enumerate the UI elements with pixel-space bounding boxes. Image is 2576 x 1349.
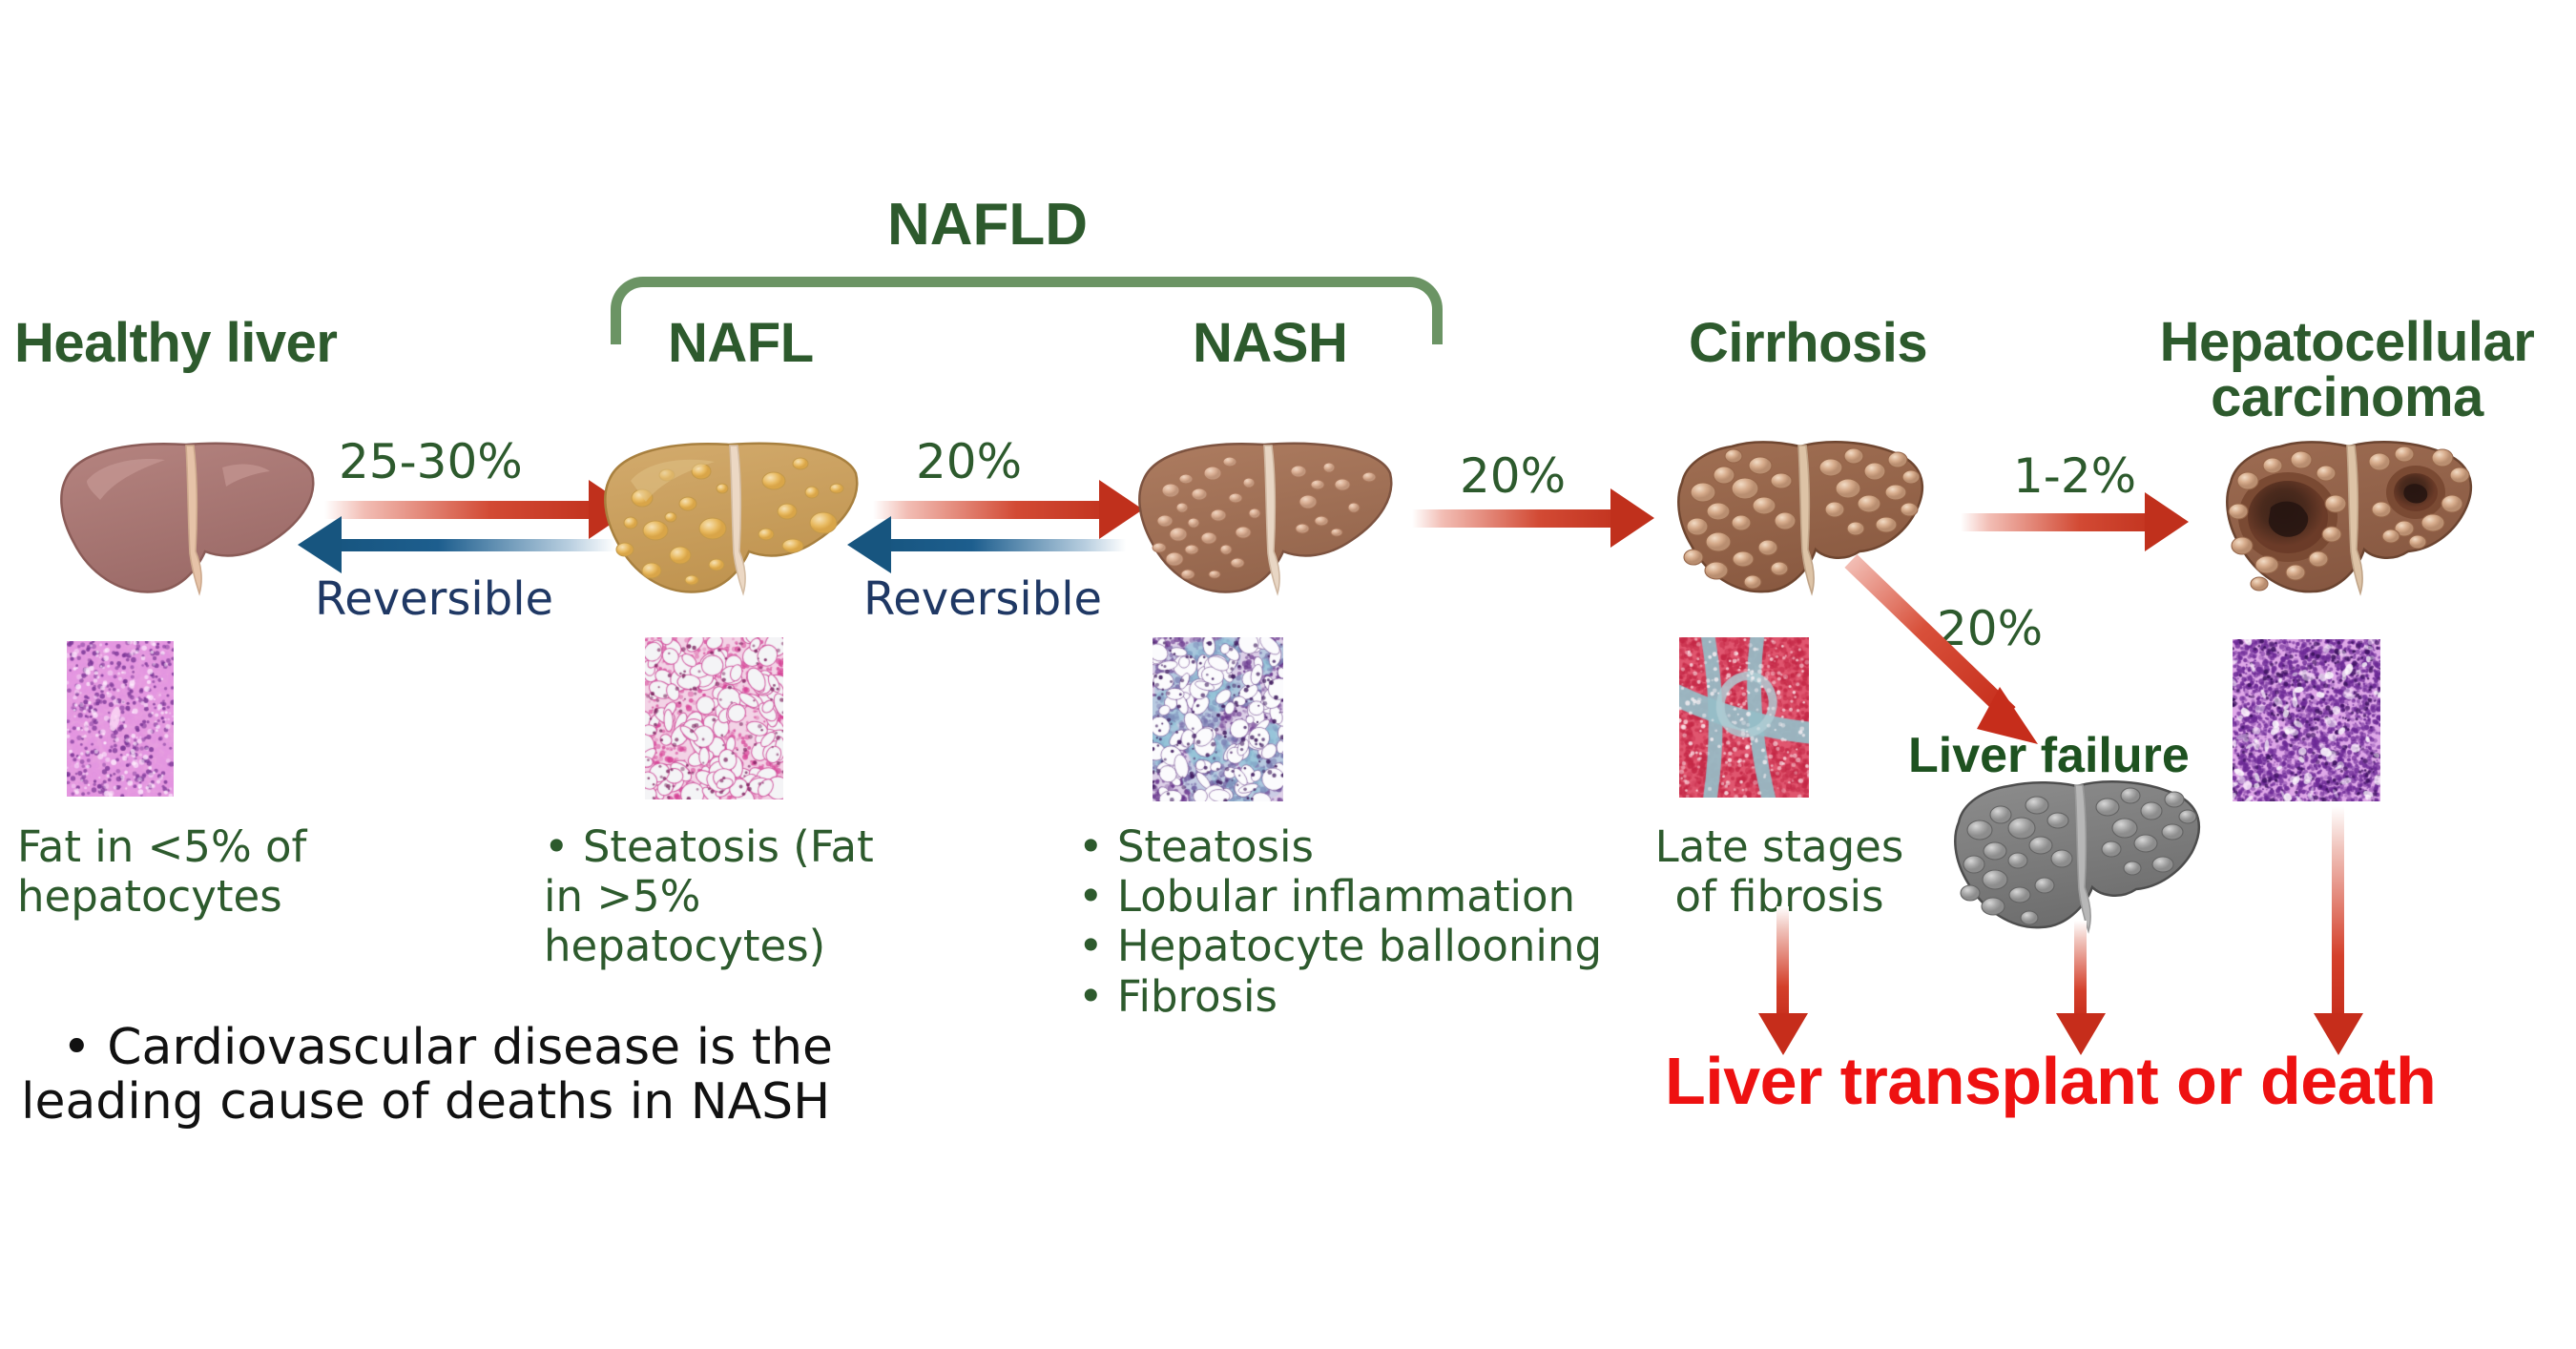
reversible-label-healthy-nafl: Reversible	[315, 572, 553, 626]
nafld-progression-diagram: NAFLD Healthy liver NAFL NASH Cirrhosis …	[0, 0, 2576, 1349]
stage-label-cirrhosis: Cirrhosis	[1689, 315, 2051, 373]
stage-label-nash: NASH	[1193, 315, 1479, 373]
cirrhosis-trichrome-histology	[1679, 637, 1809, 798]
stage-description-healthy-liver: Fat in <5% of hepatocytes	[17, 822, 332, 922]
nafld-group-title: NAFLD	[887, 191, 1088, 259]
stage-label-healthy-liver: Healthy liver	[14, 315, 425, 373]
transition-percent-healthy-to-nafl: 25-30%	[339, 434, 523, 489]
progression-arrow-nash-to-cirrhosis	[1412, 509, 1631, 528]
reversible-arrow-head-nash-to-nafl	[847, 516, 891, 573]
steatosis-histology	[645, 637, 783, 799]
progression-arrow-cirrhosis-to-hcc	[1961, 513, 2166, 531]
outcome-label-liver-transplant-or-death: Liver transplant or death	[1665, 1043, 2436, 1119]
nash-bullet-fibrosis: • Fibrosis	[1078, 972, 1670, 1022]
nash-bullet-hepatocyte-ballooning: • Hepatocyte ballooning	[1078, 922, 1670, 971]
footnote-line-2: leading cause of deaths in NASH	[21, 1073, 975, 1131]
reversible-label-nafl-nash: Reversible	[863, 572, 1102, 626]
stage-label-hepatocellular-carcinoma: Hepatocellular carcinoma	[2118, 315, 2576, 425]
nash-liver-icon	[1131, 429, 1398, 606]
progression-arrow-healthy-to-nafl	[324, 501, 611, 519]
reversible-arrow-nash-to-nafl	[878, 539, 1126, 551]
nash-bullet-steatosis: • Steatosis	[1078, 822, 1670, 872]
transition-percent-nafl-to-nash: 20%	[916, 434, 1022, 489]
stage-label-nafl: NAFL	[668, 315, 954, 373]
transition-percent-nash-to-cirrhosis: 20%	[1460, 448, 1566, 504]
failing-liver-icon	[1942, 773, 2209, 940]
outcome-arrow-from-liver-failure	[2074, 921, 2087, 1021]
progression-arrow-nafl-to-nash	[873, 501, 1121, 519]
reversible-arrow-nafl-to-healthy	[329, 539, 615, 551]
outcome-arrow-from-cirrhosis	[1776, 906, 1789, 1021]
fatty-liver-icon	[596, 429, 863, 606]
footnote-line-1: • Cardiovascular disease is the	[62, 1019, 968, 1076]
hcc-liver-icon	[2213, 429, 2481, 606]
hcc-histology	[2233, 639, 2380, 801]
healthy-liver-histology	[67, 641, 174, 797]
reversible-arrow-head-nafl-to-healthy	[298, 516, 342, 573]
stage-description-nafl: • Steatosis (Fat in >5% hepatocytes)	[544, 822, 916, 972]
progression-arrow-head-nash-to-cirrhosis	[1610, 488, 1654, 548]
nash-bullet-list: • Steatosis • Lobular inflammation • Hep…	[1078, 822, 1670, 1022]
healthy-liver-icon	[52, 429, 320, 606]
transition-percent-cirrhosis-to-hcc: 1-2%	[2013, 448, 2136, 504]
progression-arrow-head-cirrhosis-to-hcc	[2145, 492, 2189, 551]
nash-histology	[1153, 637, 1283, 801]
nash-bullet-lobular-inflammation: • Lobular inflammation	[1078, 872, 1670, 922]
outcome-arrow-from-hcc	[2332, 806, 2344, 1021]
